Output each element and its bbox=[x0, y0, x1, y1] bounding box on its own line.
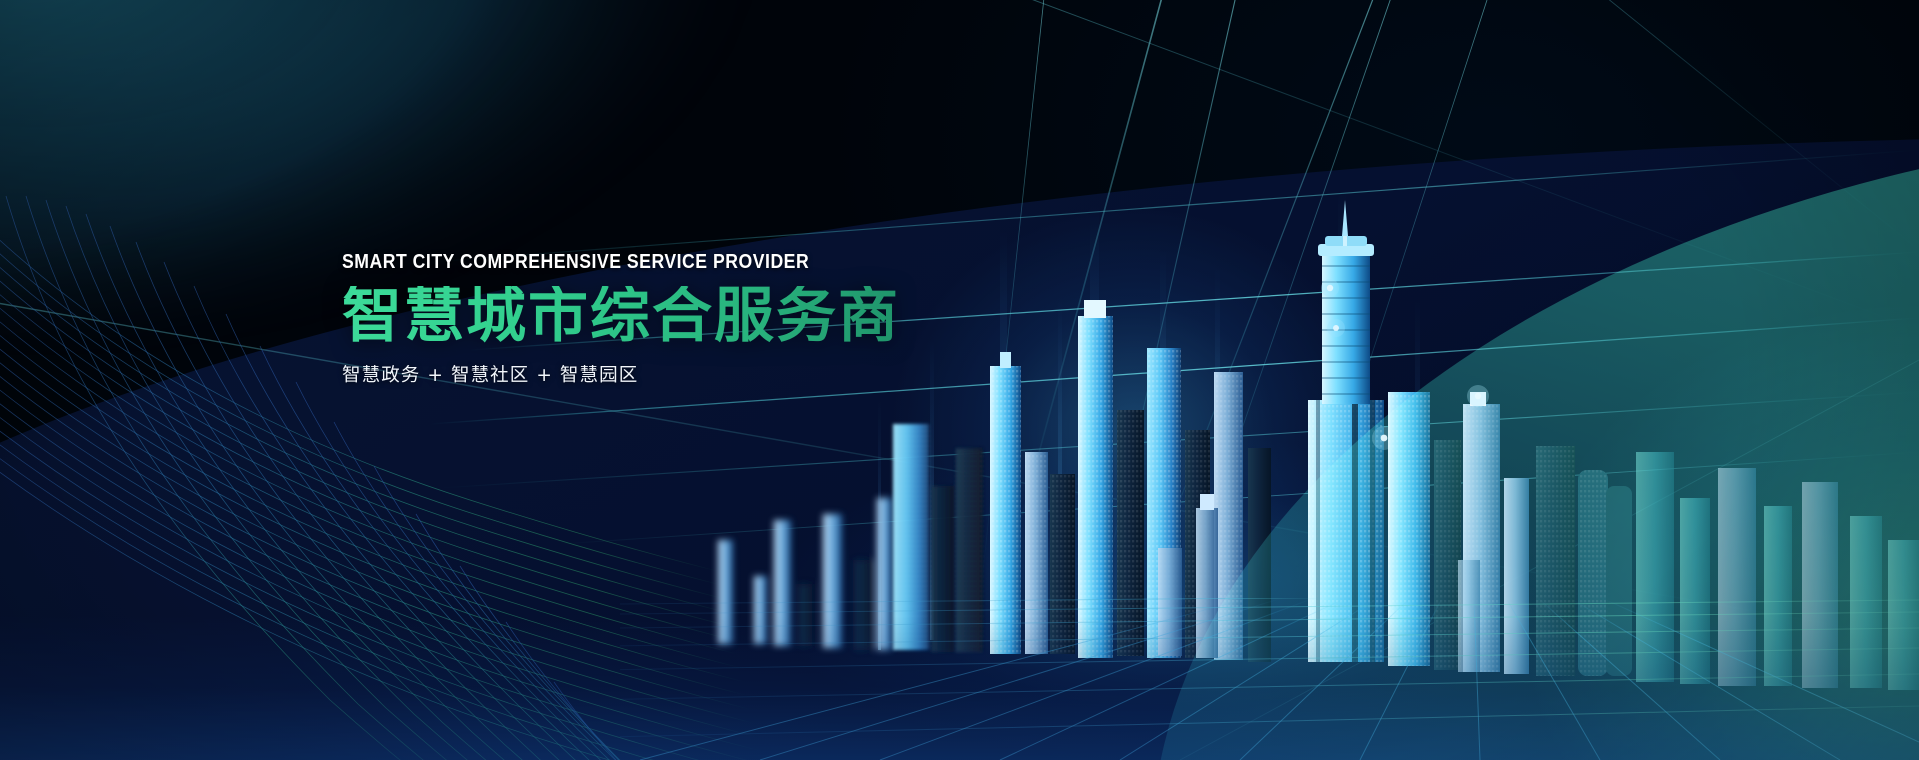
page-title: 智慧城市综合服务商 bbox=[342, 286, 1102, 347]
headline-block: SMART CITY COMPREHENSIVE SERVICE PROVIDE… bbox=[342, 252, 1102, 387]
subtitle-text: 智慧政务 + 智慧社区 + 智慧园区 bbox=[342, 361, 1102, 387]
smart-city-banner: SMART CITY COMPREHENSIVE SERVICE PROVIDE… bbox=[0, 0, 1919, 760]
eyebrow-text: SMART CITY COMPREHENSIVE SERVICE PROVIDE… bbox=[342, 252, 996, 273]
